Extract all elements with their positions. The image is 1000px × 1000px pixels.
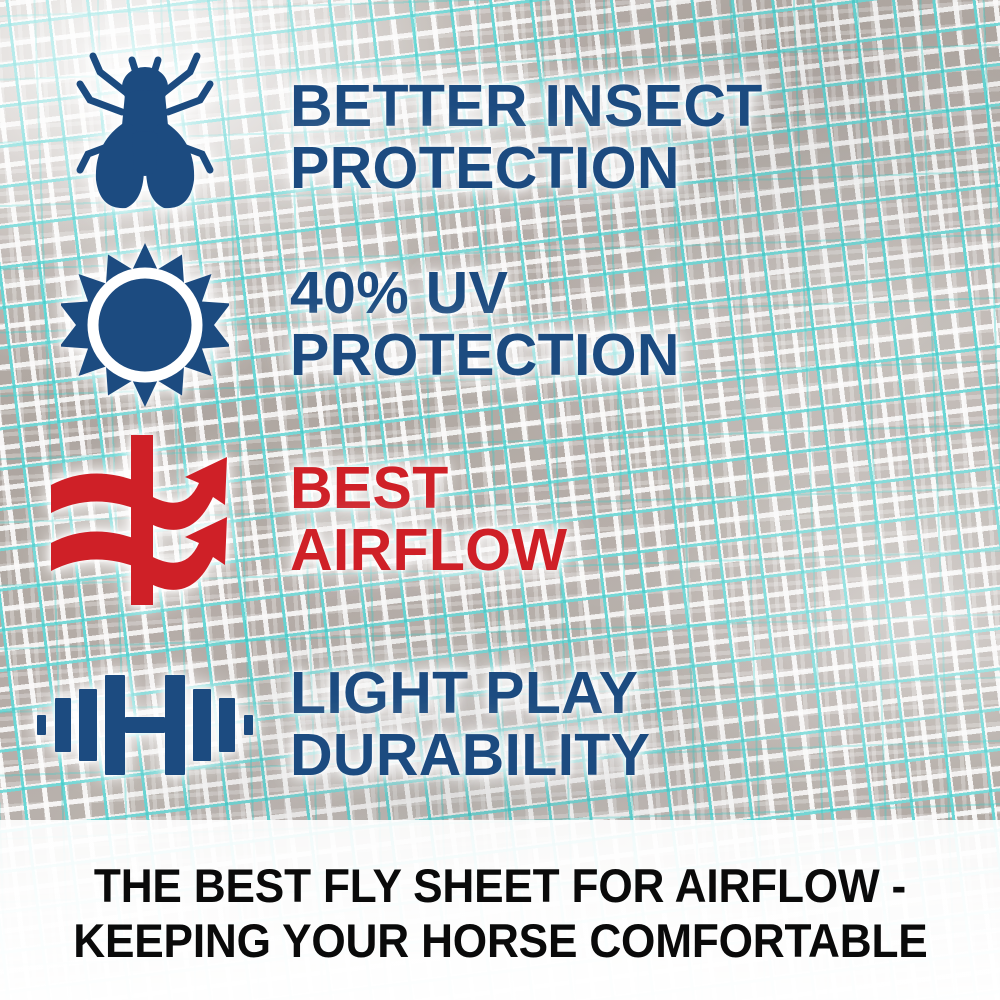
bottom-banner: THE BEST FLY SHEET FOR AIRFLOW - KEEPING… <box>0 820 1000 1000</box>
dumbbell-icon <box>35 665 255 785</box>
feature-label-best-airflow: BEST AIRFLOW <box>290 458 567 581</box>
feature-label-light-play-durability: LIGHT PLAY DURABILITY <box>290 663 650 786</box>
airflow-icon <box>45 431 245 609</box>
feature-list: BETTER INSECT PROTECTION 40% UV PROTECTI… <box>0 0 1000 820</box>
feature-label-insect-protection: BETTER INSECT PROTECTION <box>290 76 763 199</box>
banner-headline-line-2: KEEPING YOUR HORSE COMFORTABLE <box>73 914 927 969</box>
sun-icon <box>61 241 229 409</box>
feature-label-uv-protection: 40% UV PROTECTION <box>290 263 680 386</box>
banner-text-block: THE BEST FLY SHEET FOR AIRFLOW - KEEPING… <box>0 820 1000 1000</box>
airflow-icon-wrapper <box>0 432 290 607</box>
dumbbell-icon-wrapper <box>0 637 290 812</box>
fly-icon-wrapper <box>0 50 290 225</box>
product-feature-poster: BETTER INSECT PROTECTION 40% UV PROTECTI… <box>0 0 1000 1000</box>
fly-icon <box>70 50 220 225</box>
feature-row-uv-protection: 40% UV PROTECTION <box>0 229 1000 420</box>
sun-icon-wrapper <box>0 237 290 412</box>
banner-headline-line-1: THE BEST FLY SHEET FOR AIRFLOW - <box>94 859 906 914</box>
feature-row-light-play-durability: LIGHT PLAY DURABILITY <box>0 629 1000 820</box>
feature-row-best-airflow: BEST AIRFLOW <box>0 424 1000 615</box>
feature-row-insect-protection: BETTER INSECT PROTECTION <box>0 42 1000 233</box>
